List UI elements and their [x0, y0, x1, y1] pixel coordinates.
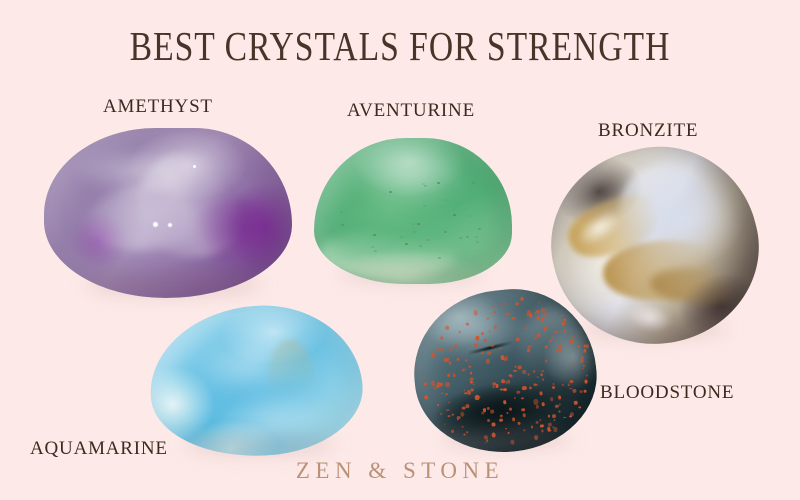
- bloodstone-speck: [586, 375, 588, 377]
- bloodstone-speck: [517, 366, 522, 370]
- bloodstone-speck: [483, 408, 487, 412]
- bloodstone-speck: [578, 345, 581, 348]
- label-bronzite: BRONZITE: [598, 120, 698, 142]
- bloodstone-speck: [492, 305, 495, 308]
- bloodstone-speck: [554, 330, 558, 333]
- bloodstone-speck: [469, 366, 471, 368]
- label-aquamarine: AQUAMARINE: [30, 438, 168, 460]
- bronzite-band-3: [648, 266, 741, 308]
- bloodstone-speck: [515, 302, 519, 306]
- aventurine-fleck: [453, 214, 456, 216]
- aventurine-highlight: [350, 150, 469, 208]
- bloodstone-speck: [514, 366, 516, 368]
- bloodstone-speck: [440, 348, 443, 352]
- bloodstone-speck: [424, 376, 426, 377]
- bloodstone-speck: [475, 336, 480, 342]
- bloodstone-speck: [544, 327, 548, 330]
- bloodstone-speck: [475, 395, 480, 400]
- bloodstone-speck: [540, 419, 542, 421]
- aquamarine-shadow: [182, 434, 338, 456]
- bloodstone-speck: [492, 385, 494, 388]
- bloodstone-speck: [531, 426, 533, 428]
- bloodstone-speck: [562, 384, 564, 386]
- bloodstone-speck: [552, 386, 555, 389]
- bloodstone-speck: [504, 357, 508, 361]
- brand-wordmark: ZEN & STONE: [0, 458, 800, 484]
- bloodstone-speck: [569, 339, 574, 344]
- bloodstone-speck: [512, 317, 516, 320]
- bloodstone-speck: [461, 425, 463, 428]
- amethyst-sparkle-1: [153, 222, 158, 227]
- aventurine-fleck: [412, 223, 415, 225]
- bloodstone-speck: [493, 311, 496, 314]
- bloodstone-speck: [563, 417, 565, 419]
- aventurine-fleck: [417, 223, 420, 225]
- aventurine-fleck: [389, 191, 392, 193]
- bloodstone-speck: [424, 382, 428, 386]
- bloodstone-speck: [451, 413, 454, 415]
- bloodstone-speck: [440, 383, 443, 386]
- aventurine-fleck: [444, 199, 447, 201]
- page-title: BEST CRYSTALS FOR STRENGTH: [72, 22, 728, 70]
- bloodstone-speck: [561, 314, 564, 316]
- bloodstone-speck: [443, 358, 448, 362]
- bloodstone-speck: [491, 422, 495, 426]
- bloodstone-speck: [536, 333, 540, 338]
- bloodstone-speck: [458, 331, 461, 334]
- bloodstone-speck: [555, 312, 557, 314]
- bloodstone-speck: [466, 404, 470, 408]
- bloodstone-speck: [559, 403, 562, 405]
- bloodstone-speck: [517, 422, 520, 426]
- bloodstone-speck: [548, 415, 550, 418]
- bloodstone-speck: [534, 337, 537, 339]
- bloodstone-speck: [464, 359, 468, 363]
- bloodstone-speck: [540, 373, 543, 376]
- aventurine-fleck: [424, 185, 427, 187]
- bloodstone-speck: [527, 374, 529, 376]
- bloodstone-speck: [499, 347, 502, 350]
- bloodstone-speck: [572, 388, 577, 392]
- bloodstone-speck: [522, 386, 527, 391]
- bloodstone-speck: [453, 374, 456, 378]
- bloodstone-speck: [448, 415, 451, 417]
- bloodstone-speck: [538, 302, 540, 304]
- bloodstone-speck: [528, 386, 532, 390]
- aventurine-fleck: [478, 228, 481, 230]
- bloodstone-speck: [448, 402, 450, 404]
- bloodstone-speck: [499, 419, 503, 422]
- bloodstone-speck: [573, 363, 576, 365]
- bloodstone-speck: [533, 370, 535, 373]
- bloodstone-speck: [466, 390, 471, 395]
- bloodstone-speck: [535, 405, 538, 409]
- bloodstone-speck: [493, 324, 497, 329]
- bloodstone-speck: [568, 383, 570, 386]
- bloodstone-speck: [500, 304, 502, 306]
- aventurine-fleck: [437, 182, 440, 184]
- bloodstone-speck: [445, 393, 448, 396]
- bloodstone-speck: [487, 419, 490, 422]
- bloodstone-speck: [539, 392, 542, 396]
- bloodstone-speck: [512, 417, 516, 421]
- bloodstone-speck: [516, 337, 520, 341]
- bloodstone-speck: [465, 322, 469, 325]
- bloodstone-speck: [485, 359, 489, 364]
- bloodstone-shadow: [440, 428, 572, 450]
- bloodstone-speck: [534, 312, 536, 314]
- bloodstone-speck: [440, 413, 442, 415]
- bloodstone-speck: [463, 389, 465, 391]
- aventurine-body: [314, 138, 512, 284]
- bloodstone-speck: [541, 402, 545, 406]
- bloodstone-speck: [520, 297, 523, 301]
- bloodstone-speck: [438, 405, 440, 407]
- aventurine-fleck: [444, 231, 447, 233]
- bloodstone-speck: [424, 395, 428, 400]
- bloodstone-speck: [551, 321, 553, 324]
- bloodstone-speck: [449, 348, 452, 352]
- bloodstone-speck: [445, 325, 449, 329]
- bloodstone-speck: [464, 392, 467, 394]
- bloodstone-speck: [490, 344, 494, 347]
- bloodstone-speck: [542, 338, 544, 340]
- bloodstone-speck: [457, 419, 459, 421]
- label-bloodstone: BLOODSTONE: [600, 382, 734, 404]
- bloodstone-speck: [473, 384, 475, 386]
- bloodstone-speck: [545, 346, 548, 349]
- bloodstone-speck: [536, 310, 540, 314]
- bloodstone-speck: [564, 330, 567, 333]
- bloodstone-speck: [456, 358, 459, 361]
- bloodstone-speck: [524, 327, 527, 330]
- bloodstone-speck: [574, 401, 578, 405]
- bloodstone-speck: [502, 388, 506, 391]
- bloodstone-speck: [481, 332, 484, 335]
- bloodstone-speck: [569, 415, 572, 417]
- bloodstone-speck: [558, 344, 563, 349]
- bloodstone-speck: [578, 406, 581, 409]
- bloodstone-speck: [559, 411, 561, 413]
- aventurine-fleck: [472, 182, 475, 184]
- aventurine-fleck: [468, 215, 471, 217]
- bloodstone-speck: [474, 343, 478, 347]
- bloodstone-speck: [480, 351, 484, 355]
- bloodstone-speck: [460, 411, 464, 416]
- label-amethyst: AMETHYST: [103, 96, 213, 118]
- bloodstone-speck: [540, 318, 543, 322]
- aventurine-fleck: [371, 246, 374, 248]
- bloodstone-speck: [522, 413, 526, 418]
- bloodstone-speck: [569, 380, 573, 383]
- bloodstone-speck: [521, 397, 524, 400]
- bloodstone-speck: [544, 313, 548, 318]
- bloodstone-speck: [572, 336, 575, 338]
- bloodstone-speck: [527, 348, 531, 352]
- bloodstone-speck: [447, 373, 451, 377]
- bloodstone-speck: [581, 356, 584, 359]
- bloodstone-speck: [430, 381, 435, 387]
- bloodstone-speck: [504, 349, 506, 350]
- aventurine-shadow: [336, 264, 486, 284]
- bloodstone-speck: [454, 344, 459, 348]
- bloodstone-speck: [470, 372, 472, 375]
- stone-aventurine: [314, 138, 512, 284]
- bloodstone-speck: [541, 370, 544, 372]
- aventurine-fleck: [341, 224, 344, 226]
- bloodstone-speck: [529, 314, 533, 318]
- bloodstone-speck: [445, 382, 450, 387]
- bloodstone-speck: [441, 392, 443, 394]
- bloodstone-speck: [431, 352, 436, 358]
- bloodstone-speck: [553, 419, 556, 422]
- bloodstone-speck: [586, 344, 589, 348]
- infographic-canvas: BEST CRYSTALS FOR STRENGTH: [0, 0, 800, 500]
- aventurine-fleck: [340, 211, 343, 213]
- bloodstone-speck: [504, 302, 506, 304]
- aventurine-fleck: [459, 237, 462, 239]
- bloodstone-speck: [549, 397, 553, 401]
- bloodstone-speck: [584, 349, 587, 352]
- bloodstone-speck: [490, 410, 494, 414]
- bloodstone-speck: [514, 397, 517, 399]
- bloodstone-speck: [446, 409, 450, 412]
- bloodstone-speck: [436, 384, 440, 388]
- bloodstone-speck: [507, 380, 511, 384]
- aventurine-fleck: [466, 236, 469, 238]
- bloodstone-speck: [558, 395, 562, 399]
- bloodstone-speck: [506, 312, 509, 316]
- bloodstone-speck: [536, 316, 540, 320]
- bloodstone-speck: [500, 355, 504, 360]
- aventurine-fleck: [476, 241, 479, 243]
- bloodstone-speck: [448, 362, 451, 364]
- bloodstone-speck: [580, 359, 584, 363]
- bloodstone-speck: [450, 371, 452, 373]
- bloodstone-speck: [500, 414, 503, 417]
- bloodstone-speck: [583, 390, 586, 393]
- bloodstone-speck: [440, 336, 443, 339]
- bloodstone-speck: [553, 383, 555, 385]
- bloodstone-speck: [555, 404, 560, 408]
- bloodstone-speck: [535, 421, 538, 424]
- bloodstone-speck: [463, 368, 467, 372]
- aventurine-fleck: [423, 205, 426, 207]
- bloodstone-speck: [462, 406, 466, 410]
- bloodstone-speck: [483, 338, 487, 341]
- bloodstone-speck: [516, 391, 520, 394]
- aventurine-fleck: [475, 236, 478, 238]
- bloodstone-speck: [533, 399, 538, 405]
- bloodstone-speck: [489, 330, 491, 332]
- bloodstone-speck: [561, 322, 565, 326]
- bloodstone-speck: [582, 368, 584, 369]
- amethyst-shadow: [84, 272, 264, 298]
- bloodstone-speck: [542, 378, 545, 381]
- bloodstone-speck: [584, 380, 588, 384]
- bloodstone-speck: [503, 400, 507, 403]
- amethyst-dark-zone: [193, 196, 277, 274]
- label-aventurine: AVENTURINE: [347, 100, 475, 122]
- bloodstone-speck: [506, 412, 508, 414]
- bloodstone-speck: [513, 369, 517, 372]
- bloodstone-speck: [487, 352, 492, 356]
- bloodstone-speck: [509, 407, 512, 410]
- bloodstone-speck: [444, 423, 446, 424]
- bloodstone-speck: [474, 310, 479, 315]
- bloodstone-speck: [522, 370, 526, 375]
- bloodstone-speck: [557, 349, 560, 352]
- bloodstone-speck: [580, 390, 583, 393]
- bloodstone-speck: [545, 360, 548, 363]
- bloodstone-speck: [544, 308, 547, 310]
- bloodstone-speck: [521, 408, 525, 411]
- bronzite-shadow: [580, 318, 730, 340]
- bloodstone-speck: [552, 414, 557, 418]
- bloodstone-speck: [487, 317, 490, 320]
- bloodstone-speck: [540, 424, 544, 427]
- bloodstone-speck: [537, 376, 539, 377]
- bloodstone-speck: [549, 340, 552, 343]
